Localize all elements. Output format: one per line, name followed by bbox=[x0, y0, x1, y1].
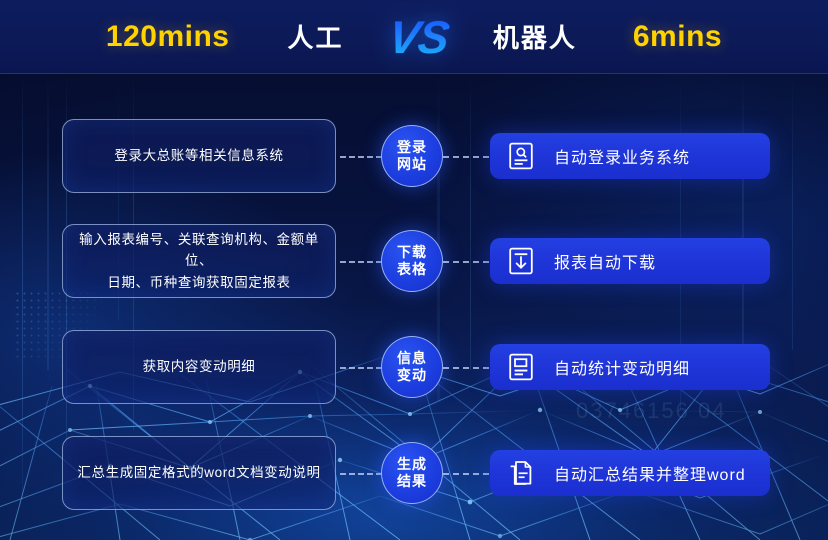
stage-badge-1[interactable]: 登录 网站 bbox=[381, 125, 443, 187]
header-inner: 120mins 人工 VS 机器人 6mins bbox=[106, 10, 722, 64]
robot-step-button-2[interactable]: 报表自动下载 bbox=[490, 238, 770, 284]
manual-step-box-1: 登录大总账等相关信息系统 bbox=[62, 119, 336, 193]
connector-left-2 bbox=[340, 261, 382, 263]
stage-badge-line1: 信息 bbox=[397, 350, 427, 367]
process-row-3: 获取内容变动明细 信息 变动 自动统计变动明细 bbox=[0, 330, 828, 404]
robot-step-label-2: 报表自动下载 bbox=[554, 249, 656, 273]
stage-badge-line1: 下载 bbox=[397, 244, 427, 261]
manual-side-label: 人工 bbox=[287, 18, 343, 55]
manual-step-box-2: 输入报表编号、关联查询机构、金额单位、 日期、币种查询获取固定报表 bbox=[62, 224, 336, 298]
connector-left-1 bbox=[340, 156, 382, 158]
connector-right-1 bbox=[443, 156, 489, 158]
vs-label: VS bbox=[386, 10, 453, 64]
connector-left-3 bbox=[340, 367, 382, 369]
robot-step-label-1: 自动登录业务系统 bbox=[554, 144, 690, 168]
manual-step-text-1: 登录大总账等相关信息系统 bbox=[100, 145, 297, 167]
manual-step-text-3: 获取内容变动明细 bbox=[129, 356, 270, 378]
process-row-2: 输入报表编号、关联查询机构、金额单位、 日期、币种查询获取固定报表 下载 表格 … bbox=[0, 224, 828, 298]
manual-step-line: 汇总生成固定格式的word文档变动说明 bbox=[77, 462, 320, 484]
manual-step-text-2: 输入报表编号、关联查询机构、金额单位、 日期、币种查询获取固定报表 bbox=[63, 229, 335, 294]
manual-step-line: 获取内容变动明细 bbox=[143, 356, 256, 378]
robot-step-button-3[interactable]: 自动统计变动明细 bbox=[490, 344, 770, 390]
stage-badge-line2: 网站 bbox=[397, 156, 427, 173]
document-stats-icon bbox=[508, 353, 534, 381]
robot-step-label-3: 自动统计变动明细 bbox=[554, 355, 690, 379]
manual-time-label: 120mins bbox=[106, 20, 230, 54]
stage-badge-3[interactable]: 信息 变动 bbox=[381, 336, 443, 398]
stage-badge-2[interactable]: 下载 表格 bbox=[381, 230, 443, 292]
download-box-icon bbox=[508, 247, 534, 275]
infographic-stage: 03746156 04 120mins 人工 VS 机器人 6mins 登录大总… bbox=[0, 0, 828, 540]
manual-step-box-3: 获取内容变动明细 bbox=[62, 330, 336, 404]
robot-time-label: 6mins bbox=[633, 20, 722, 54]
robot-step-button-1[interactable]: 自动登录业务系统 bbox=[490, 133, 770, 179]
connector-right-4 bbox=[443, 473, 489, 475]
manual-step-line: 日期、币种查询获取固定报表 bbox=[77, 272, 321, 294]
robot-step-button-4[interactable]: 自动汇总结果并整理word bbox=[490, 450, 770, 496]
process-row-4: 汇总生成固定格式的word文档变动说明 生成 结果 自动汇总结果并整理word bbox=[0, 436, 828, 510]
stage-badge-line1: 登录 bbox=[397, 139, 427, 156]
process-row-1: 登录大总账等相关信息系统 登录 网站 自动登录业务系统 bbox=[0, 119, 828, 193]
documents-copy-icon bbox=[508, 459, 534, 487]
manual-step-box-4: 汇总生成固定格式的word文档变动说明 bbox=[62, 436, 336, 510]
connector-right-3 bbox=[443, 367, 489, 369]
document-search-icon bbox=[508, 142, 534, 170]
manual-step-line: 登录大总账等相关信息系统 bbox=[114, 145, 283, 167]
stage-badge-4[interactable]: 生成 结果 bbox=[381, 442, 443, 504]
stage-badge-line2: 结果 bbox=[397, 473, 427, 490]
manual-step-text-4: 汇总生成固定格式的word文档变动说明 bbox=[63, 462, 334, 484]
robot-step-label-4: 自动汇总结果并整理word bbox=[554, 461, 746, 485]
manual-step-line: 输入报表编号、关联查询机构、金额单位、 bbox=[77, 229, 321, 272]
connector-right-2 bbox=[443, 261, 489, 263]
stage-badge-line2: 表格 bbox=[397, 261, 427, 278]
robot-side-label: 机器人 bbox=[493, 18, 577, 55]
comparison-header: 120mins 人工 VS 机器人 6mins bbox=[0, 0, 828, 74]
stage-badge-line1: 生成 bbox=[397, 456, 427, 473]
stage-badge-line2: 变动 bbox=[397, 367, 427, 384]
connector-left-4 bbox=[340, 473, 382, 475]
